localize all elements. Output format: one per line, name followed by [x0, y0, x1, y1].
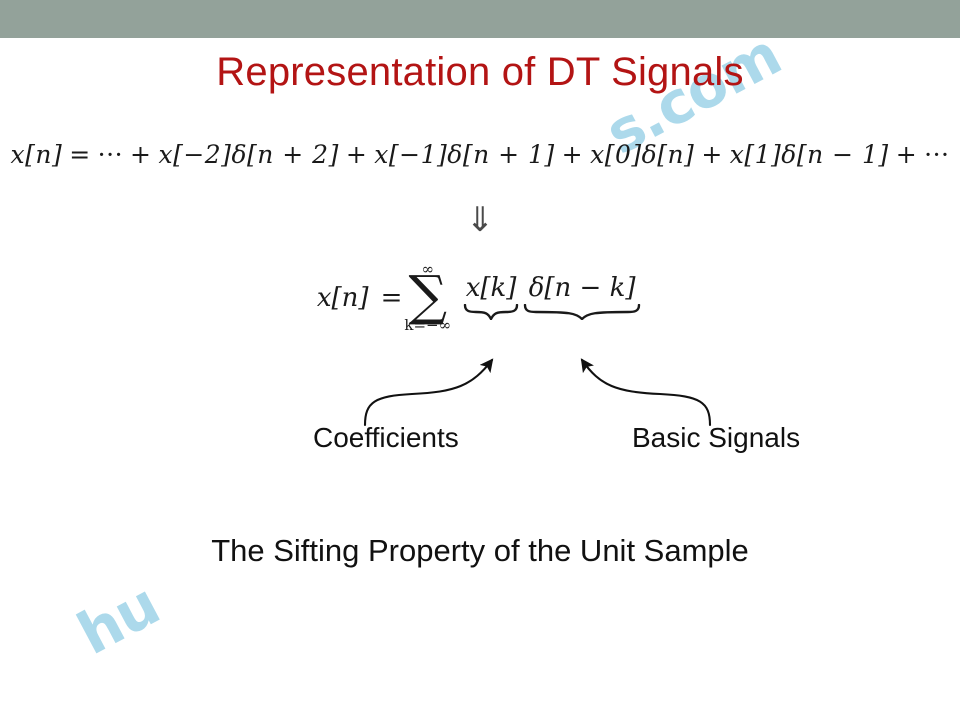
eq1-delta-m1: δ[n − 1] — [781, 140, 888, 169]
eq1-coef-m1: x[−1] — [374, 140, 447, 169]
top-decorative-band — [0, 0, 960, 38]
eq1-plus-2: + — [346, 140, 367, 169]
eq1-equals: = — [69, 140, 90, 169]
eq1-delta-p2: δ[n + 2] — [231, 140, 338, 169]
eq2-basis-term: δ[n − k] — [529, 275, 636, 302]
coefficient-term-group: x[k] — [463, 275, 519, 319]
summation-operator: ∞ ∑ k=−∞ — [404, 262, 451, 333]
eq2-coefficient-term: x[k] — [466, 275, 517, 302]
equation-summation: x[n] = ∞ ∑ k=−∞ x[k] δ[n − k] — [0, 262, 960, 333]
arrow-basic-signals — [582, 360, 710, 425]
slide-canvas: s.com hu Representation of DT Signals x[… — [0, 0, 960, 720]
watermark-bottom: hu — [67, 570, 170, 668]
eq1-plus-5: + — [896, 140, 917, 169]
eq1-plus-4: + — [701, 140, 722, 169]
eq1-delta-p1: δ[n + 1] — [447, 140, 554, 169]
underbrace-basic-signals-icon — [523, 304, 641, 320]
arrow-coefficients — [365, 360, 492, 425]
label-basic-signals: Basic Signals — [632, 422, 800, 454]
eq1-coef-m2: x[−2] — [158, 140, 231, 169]
eq1-plus-1: + — [130, 140, 151, 169]
page-title: Representation of DT Signals — [0, 50, 960, 95]
label-coefficients: Coefficients — [313, 422, 459, 454]
callout-arrows-group — [0, 330, 960, 440]
eq1-ellipsis-left: ··· — [98, 140, 123, 169]
eq1-delta-0: δ[n] — [642, 140, 695, 169]
eq1-coef-0: x[0] — [590, 140, 642, 169]
equation-expanded: x[n]=···+x[−2]δ[n + 2]+x[−1]δ[n + 1]+x[0… — [0, 140, 960, 169]
eq2-equals: = — [381, 283, 403, 313]
slide-caption: The Sifting Property of the Unit Sample — [0, 533, 960, 569]
sigma-icon: ∑ — [408, 275, 447, 317]
eq2-lhs: x[n] — [317, 283, 369, 313]
eq1-lhs: x[n] — [11, 140, 63, 169]
eq1-ellipsis-right: ··· — [924, 140, 949, 169]
double-down-arrow-icon: ⇓ — [0, 200, 960, 240]
eq1-plus-3: + — [562, 140, 583, 169]
underbrace-coefficients-icon — [463, 304, 519, 320]
eq1-coef-1: x[1] — [730, 140, 782, 169]
basis-term-group: δ[n − k] — [523, 275, 641, 319]
